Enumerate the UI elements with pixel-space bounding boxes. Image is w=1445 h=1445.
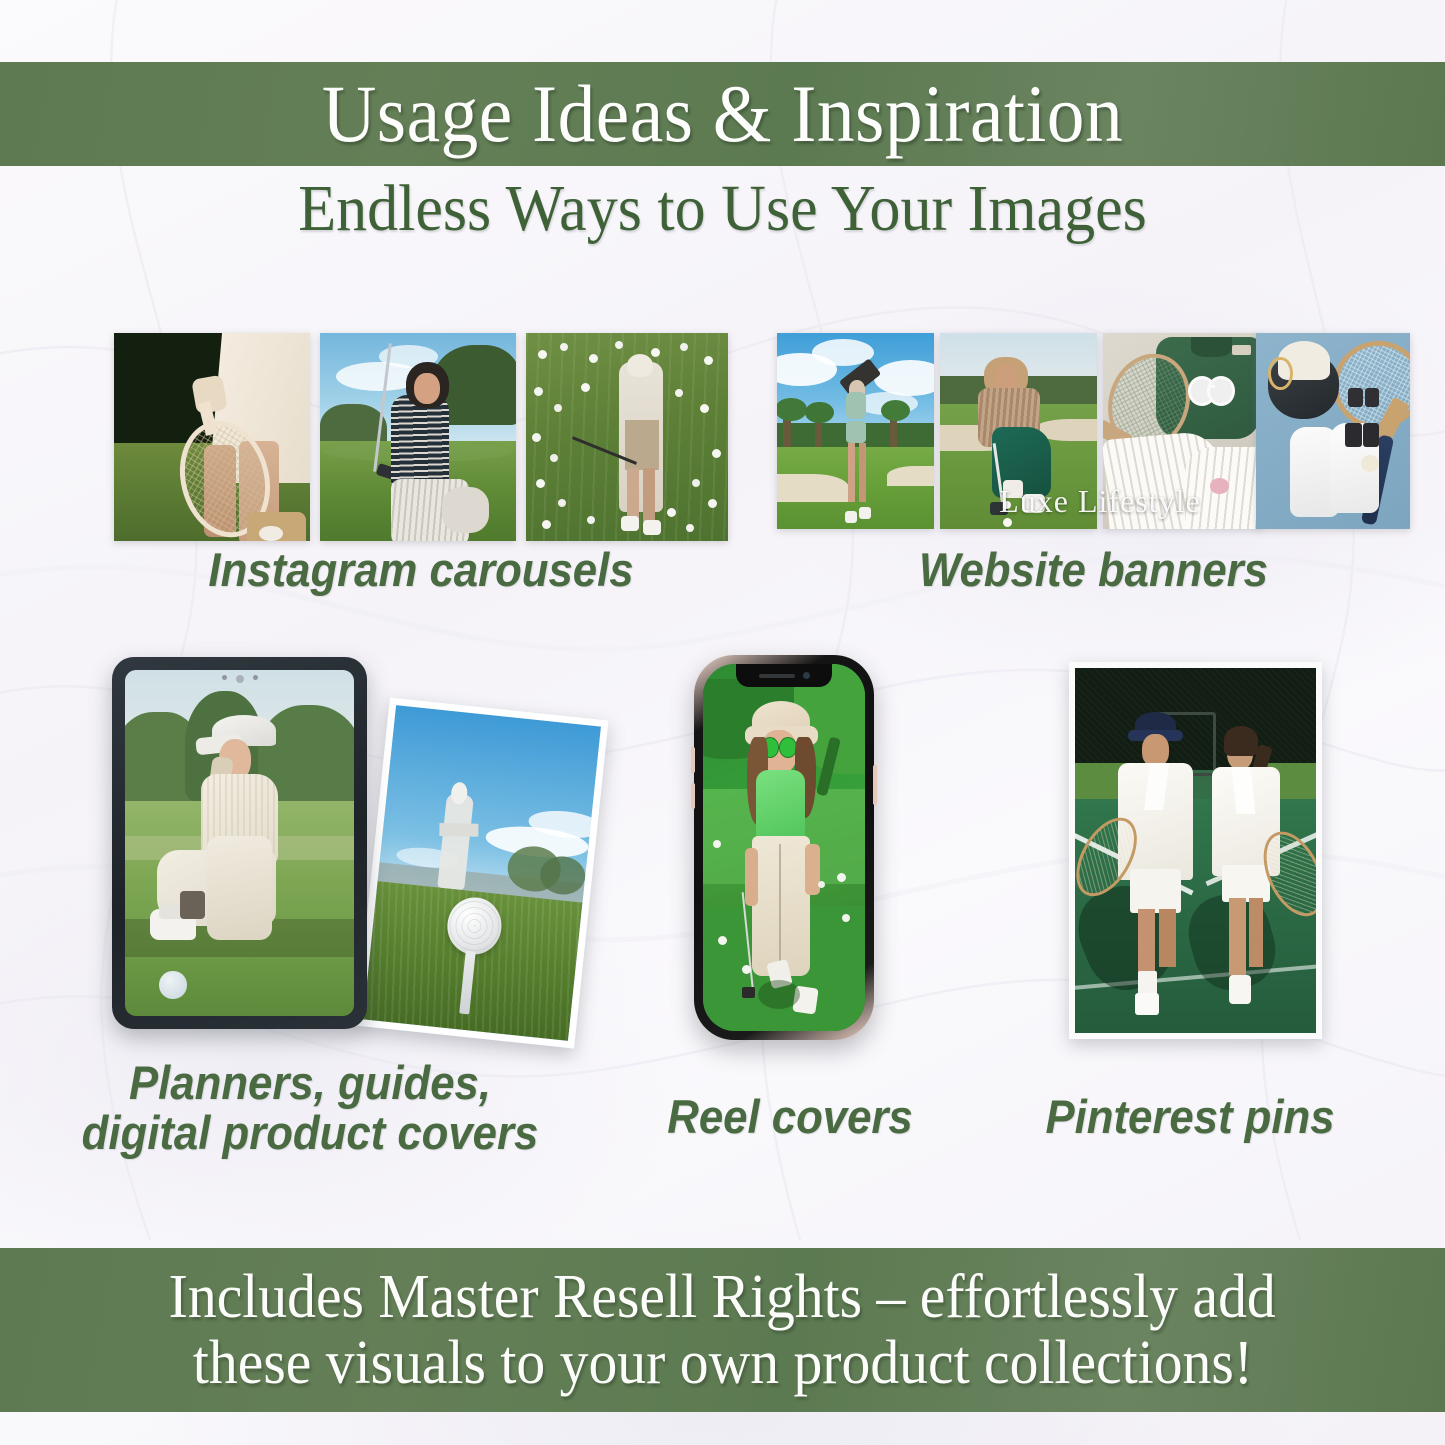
- print-card-golf-ball: [355, 697, 608, 1048]
- caption-planners: Planners, guides, digital product covers: [31, 1058, 589, 1158]
- photo-content: [777, 333, 934, 529]
- photo-flatlay-blue-sneakers: [1256, 333, 1410, 529]
- phone-mockup: [694, 655, 874, 1040]
- caption-reel-covers: Reel covers: [651, 1092, 930, 1142]
- phone-volume-up-button: [691, 747, 695, 773]
- footer-line-1: Includes Master Resell Rights – effortle…: [169, 1264, 1276, 1330]
- photo-content: [320, 333, 516, 541]
- caption-planners-line2: digital product covers: [31, 1108, 589, 1158]
- pinterest-pin-card: [1069, 662, 1322, 1039]
- phone-volume-down-button: [691, 783, 695, 809]
- phone-speaker: [759, 674, 795, 678]
- tablet-mockup: [112, 657, 367, 1029]
- tablet-screen: [125, 670, 354, 1016]
- photo-tennis-skirt-racket: [114, 333, 310, 541]
- photo-driving-range: [526, 333, 728, 541]
- caption-pinterest-pins: Pinterest pins: [976, 1092, 1404, 1142]
- tablet-camera-dots: [125, 675, 354, 683]
- page-title: Usage Ideas & Inspiration: [322, 73, 1123, 155]
- footer-text: Includes Master Resell Rights – effortle…: [127, 1264, 1317, 1397]
- caption-planners-line1: Planners, guides,: [31, 1058, 589, 1108]
- photo-content: [1256, 333, 1410, 529]
- usage-ideas-graphic: Usage Ideas & Inspiration Endless Ways t…: [0, 0, 1445, 1445]
- phone-front-camera-icon: [803, 672, 810, 679]
- photo-content: [526, 333, 728, 541]
- photo-striped-top-golf: [320, 333, 516, 541]
- caption-instagram-carousels: Instagram carousels: [135, 545, 706, 595]
- page-subtitle: Endless Ways to Use Your Images: [43, 176, 1401, 242]
- footer-line-2: these visuals to your own product collec…: [192, 1330, 1252, 1396]
- photo-overlay-luxe-lifestyle: Luxe Lifestyle: [940, 483, 1260, 520]
- photo-content: [114, 333, 310, 541]
- phone-screen: [703, 664, 865, 1031]
- footer-banner: Includes Master Resell Rights – effortle…: [0, 1248, 1445, 1412]
- header-banner: Usage Ideas & Inspiration: [0, 62, 1445, 166]
- phone-power-button: [873, 765, 877, 805]
- phone-notch: [736, 664, 832, 687]
- photo-content: [396, 705, 601, 727]
- caption-website-banners: Website banners: [799, 545, 1388, 595]
- photo-golf-swing-palms: [777, 333, 934, 529]
